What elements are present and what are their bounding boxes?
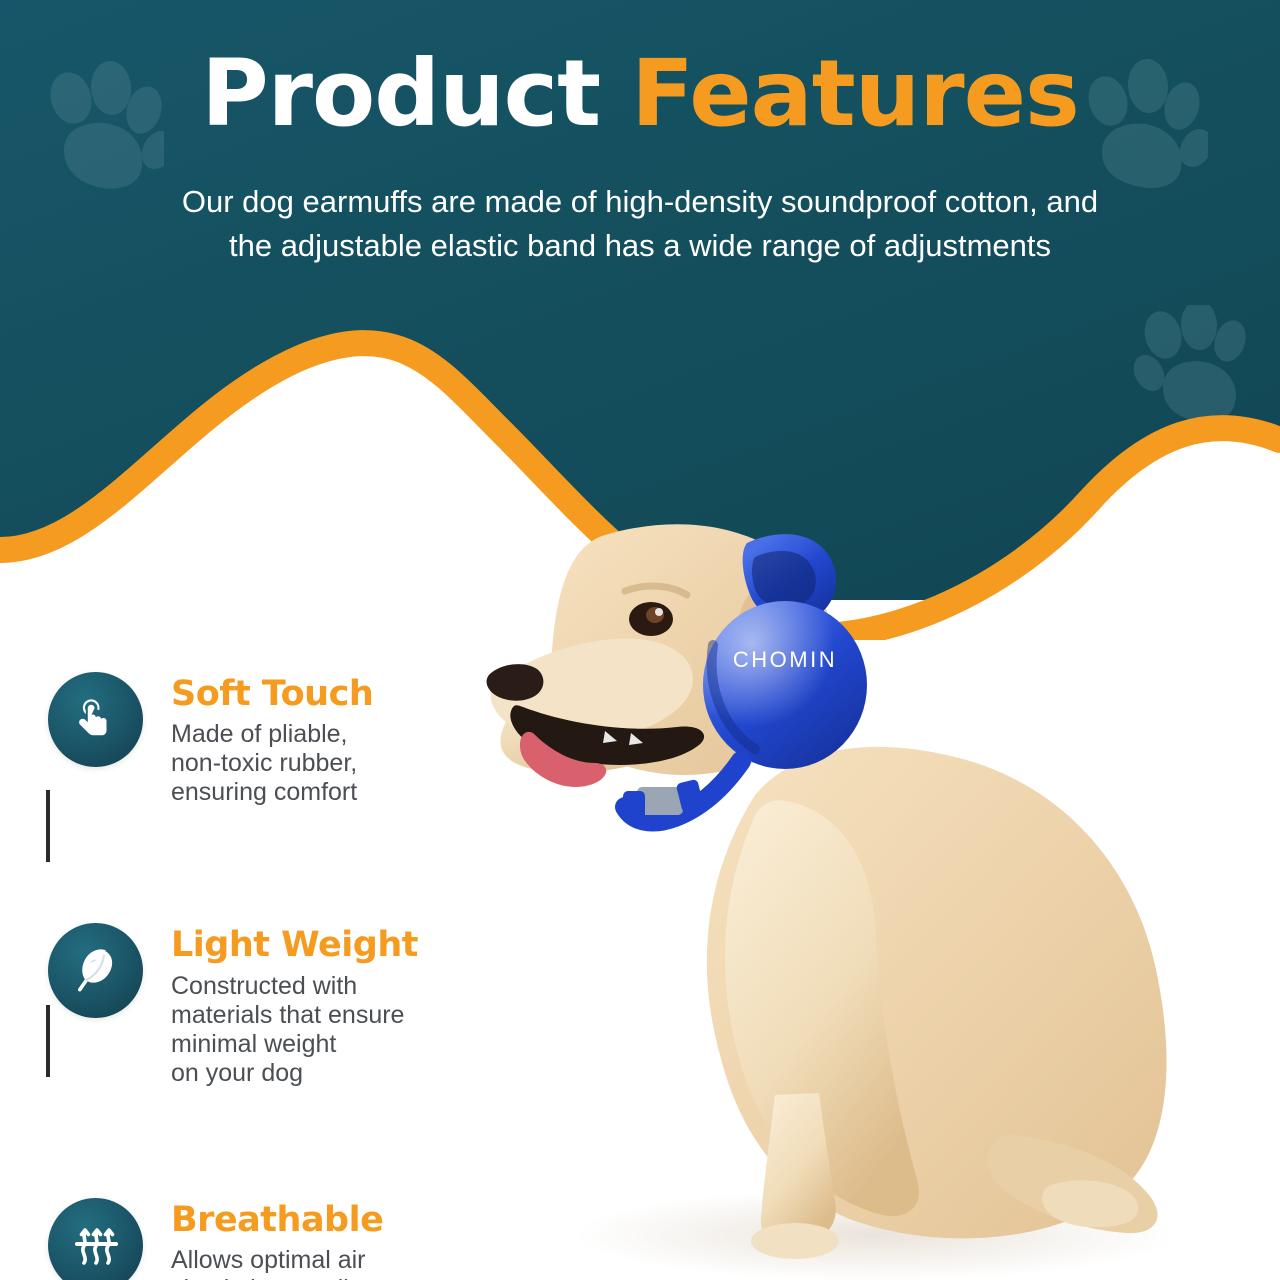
title-word-product: Product	[201, 40, 600, 147]
feature-icon-badge	[48, 672, 143, 767]
feature-description-line: Constructed with	[171, 972, 418, 1001]
title-word-features: Features	[631, 40, 1079, 147]
subtitle-line-1: Our dog earmuffs are made of high-densit…	[60, 180, 1220, 224]
product-photo-dog-with-earmuffs: CHOMIN	[455, 495, 1195, 1280]
feature-icon-badge	[48, 923, 143, 1018]
airflow-icon	[70, 1219, 122, 1271]
feature-item-light-weight: Light Weight Constructed with materials …	[48, 923, 528, 1087]
feature-description-line: on your dog	[171, 1059, 418, 1088]
feature-description: Constructed with materials that ensure m…	[171, 972, 418, 1088]
feature-item-soft-touch: Soft Touch Made of pliable, non-toxic ru…	[48, 672, 528, 807]
feature-text: Light Weight Constructed with materials …	[171, 923, 418, 1087]
feature-description-line: Allows optimal air	[171, 1246, 383, 1275]
infographic-page: Product Features Our dog earmuffs are ma…	[0, 0, 1280, 1280]
feature-text: Breathable Allows optimal air circulatio…	[171, 1198, 383, 1280]
feature-description-line: circulation; easily	[171, 1275, 383, 1280]
feature-list: Soft Touch Made of pliable, non-toxic ru…	[48, 672, 528, 1280]
feature-icon-badge	[48, 1198, 143, 1280]
tap-hand-icon	[71, 695, 121, 745]
feather-icon	[69, 944, 123, 998]
feature-description-line: ensuring comfort	[171, 778, 373, 807]
feature-title: Light Weight	[171, 927, 418, 963]
brand-label-on-earmuff: CHOMIN	[733, 647, 837, 672]
feature-title: Soft Touch	[171, 676, 373, 712]
feature-description-line: minimal weight	[171, 1030, 418, 1059]
feature-title: Breathable	[171, 1202, 383, 1238]
subtitle-line-2: the adjustable elastic band has a wide r…	[60, 224, 1220, 268]
feature-item-breathable: Breathable Allows optimal air circulatio…	[48, 1198, 528, 1280]
feature-description-line: non-toxic rubber,	[171, 749, 373, 778]
feature-description: Made of pliable, non-toxic rubber, ensur…	[171, 720, 373, 807]
page-title: Product Features	[0, 48, 1280, 140]
feature-description-line: materials that ensure	[171, 1001, 418, 1030]
feature-text: Soft Touch Made of pliable, non-toxic ru…	[171, 672, 373, 807]
feature-description: Allows optimal air circulation; easily m…	[171, 1246, 383, 1280]
page-subtitle: Our dog earmuffs are made of high-densit…	[60, 180, 1220, 268]
feature-description-line: Made of pliable,	[171, 720, 373, 749]
